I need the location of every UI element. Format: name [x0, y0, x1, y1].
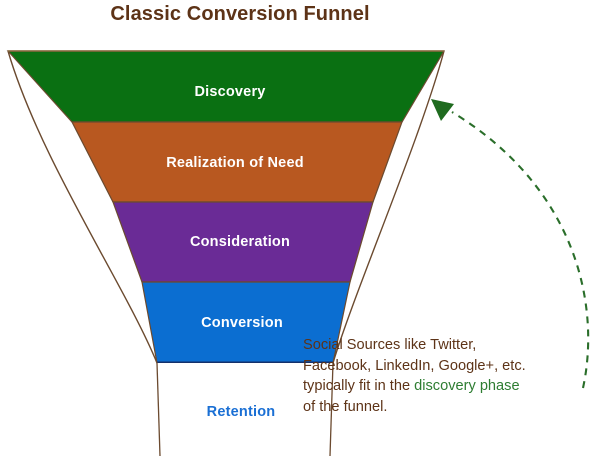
annotation-line-2: Facebook, LinkedIn, Google+, etc.	[303, 358, 526, 374]
funnel-diagram-page: Classic Conversion Funnel Discovery Real…	[0, 0, 604, 461]
dashed-curved-arrow-head	[431, 99, 454, 121]
funnel-label-consideration: Consideration	[0, 234, 480, 250]
annotation-highlight-discovery-phase: discovery phase	[414, 378, 519, 394]
annotation-line-3-prefix: typically fit in the	[303, 378, 414, 394]
funnel-label-discovery: Discovery	[0, 84, 460, 100]
annotation-text: Social Sources like Twitter, Facebook, L…	[303, 335, 583, 417]
funnel-label-realization: Realization of Need	[0, 155, 470, 171]
funnel-label-conversion: Conversion	[0, 315, 484, 331]
annotation-line-4: of the funnel.	[303, 399, 387, 415]
annotation-line-1: Social Sources like Twitter,	[303, 337, 476, 353]
